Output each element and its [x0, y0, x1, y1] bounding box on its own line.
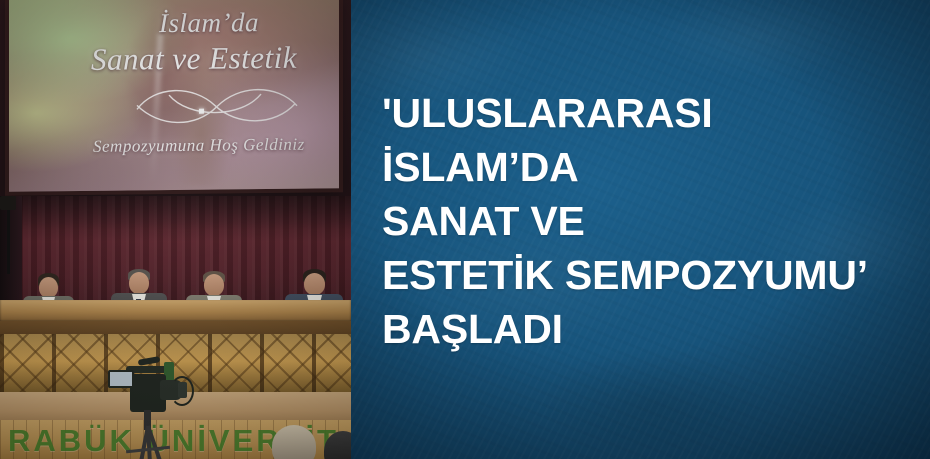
slide-title-line-2: Sanat ve Estetik [91, 40, 297, 78]
headline-panel: 'ULUSLARARASI İSLAM’DA SANAT VE ESTETİK … [351, 0, 930, 459]
panel-table-surface [0, 300, 351, 322]
projection-screen: İslam’da Sanat ve Estetik Sempozyumuna H… [9, 0, 339, 192]
headline-line-4: ESTETİK SEMPOZYUMU’ [382, 248, 910, 302]
speaker-4-head [304, 273, 325, 295]
slide-artwork [121, 9, 266, 187]
speaker-1-head [39, 277, 58, 298]
camera-lcd-screen [108, 370, 134, 388]
video-camera-on-tripod [108, 352, 192, 459]
panel-table-front [0, 321, 351, 335]
news-thumbnail-canvas: İslam’da Sanat ve Estetik Sempozyumuna H… [0, 0, 930, 459]
headline-line-3: SANAT VE [382, 194, 910, 248]
speaker-2-head [129, 272, 149, 294]
speaker-3-head [204, 274, 224, 296]
camera-coiled-cable [170, 376, 194, 406]
headline-text: 'ULUSLARARASI İSLAM’DA SANAT VE ESTETİK … [382, 86, 910, 356]
camera-shotgun-microphone [138, 356, 161, 366]
light-stand [7, 200, 10, 274]
headline-line-1: 'ULUSLARARASI [382, 86, 910, 140]
event-photograph: İslam’da Sanat ve Estetik Sempozyumuna H… [0, 0, 351, 459]
slide-flourish-ornament [129, 78, 309, 135]
slide-center-dot [199, 109, 204, 114]
headline-line-5: BAŞLADI [382, 302, 910, 356]
audience-head-1 [272, 425, 316, 459]
headline-line-2: İSLAM’DA [382, 140, 910, 194]
stage-light-fixture [0, 196, 16, 210]
slide-welcome-line: Sempozyumuna Hoş Geldiniz [93, 135, 305, 157]
slide-light-wisp [150, 33, 163, 183]
slide-title-line-1: İslam’da [159, 7, 259, 39]
